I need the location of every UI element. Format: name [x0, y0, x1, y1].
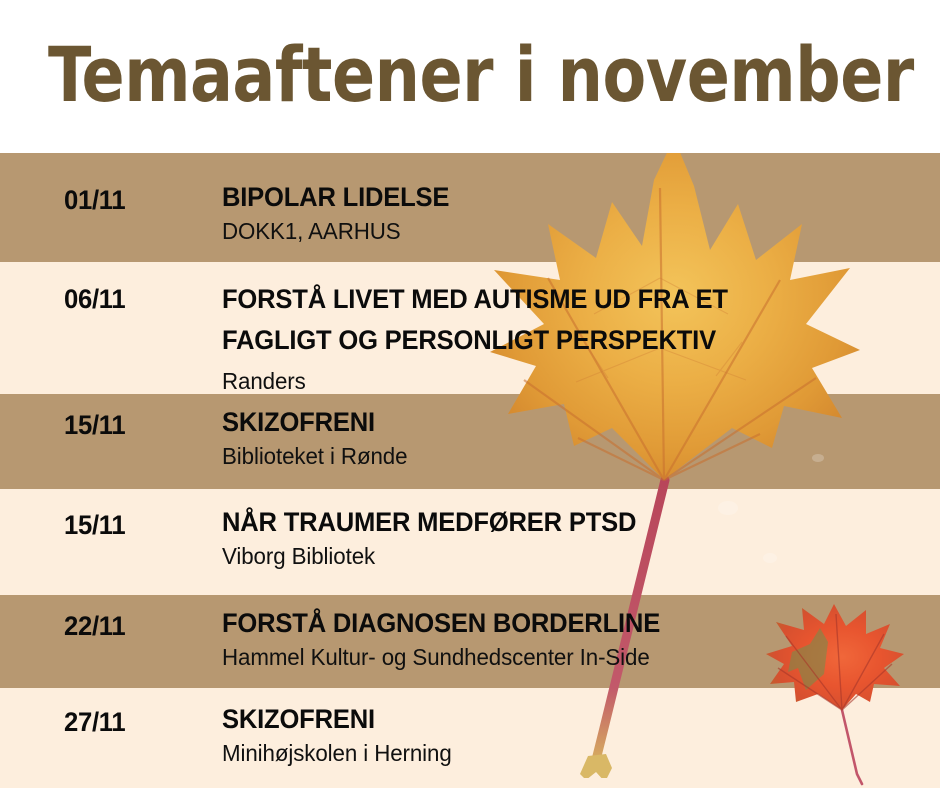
event-row-5: 22/11 FORSTÅ DIAGNOSEN BORDERLINE Hammel…	[0, 595, 940, 688]
event-details: BIPOLAR LIDELSE DOKK1, AARHUS	[222, 180, 932, 245]
event-venue: Randers	[222, 367, 911, 395]
event-date: 27/11	[64, 707, 188, 738]
event-title: SKIZOFRENI	[222, 702, 907, 736]
event-details: FORSTÅ LIVET MED AUTISME UD FRA ET FAGLI…	[222, 279, 932, 395]
event-title: FORSTÅ DIAGNOSEN BORDERLINE	[222, 606, 907, 640]
event-venue: Minihøjskolen i Herning	[222, 739, 911, 767]
event-row-2: 06/11 FORSTÅ LIVET MED AUTISME UD FRA ET…	[0, 262, 940, 394]
event-date: 01/11	[64, 185, 188, 216]
event-venue: Biblioteket i Rønde	[222, 442, 911, 470]
event-details: NÅR TRAUMER MEDFØRER PTSD Viborg Bibliot…	[222, 505, 932, 570]
event-title: FORSTÅ LIVET MED AUTISME UD FRA ET FAGLI…	[222, 279, 907, 361]
poster-canvas: Temaaftener i november 01/11 BIPOLAR LID…	[0, 0, 940, 788]
event-venue: Hammel Kultur- og Sundhedscenter In-Side	[222, 643, 911, 671]
event-row-1: 01/11 BIPOLAR LIDELSE DOKK1, AARHUS	[0, 153, 940, 262]
event-venue: DOKK1, AARHUS	[222, 217, 911, 245]
event-title: NÅR TRAUMER MEDFØRER PTSD	[222, 505, 907, 539]
event-title: SKIZOFRENI	[222, 405, 907, 439]
event-details: SKIZOFRENI Biblioteket i Rønde	[222, 405, 932, 470]
event-date: 15/11	[64, 410, 188, 441]
event-row-4: 15/11 NÅR TRAUMER MEDFØRER PTSD Viborg B…	[0, 489, 940, 595]
event-date: 15/11	[64, 510, 188, 541]
event-venue: Viborg Bibliotek	[222, 542, 911, 570]
event-row-3: 15/11 SKIZOFRENI Biblioteket i Rønde	[0, 394, 940, 489]
event-title: BIPOLAR LIDELSE	[222, 180, 907, 214]
event-details: FORSTÅ DIAGNOSEN BORDERLINE Hammel Kultu…	[222, 606, 932, 671]
event-date: 22/11	[64, 611, 188, 642]
event-date: 06/11	[64, 284, 188, 315]
event-row-6: 27/11 SKIZOFRENI Minihøjskolen i Herning	[0, 688, 940, 788]
header-bar: Temaaftener i november	[0, 0, 940, 153]
page-title: Temaaftener i november	[48, 27, 914, 123]
event-details: SKIZOFRENI Minihøjskolen i Herning	[222, 702, 932, 767]
